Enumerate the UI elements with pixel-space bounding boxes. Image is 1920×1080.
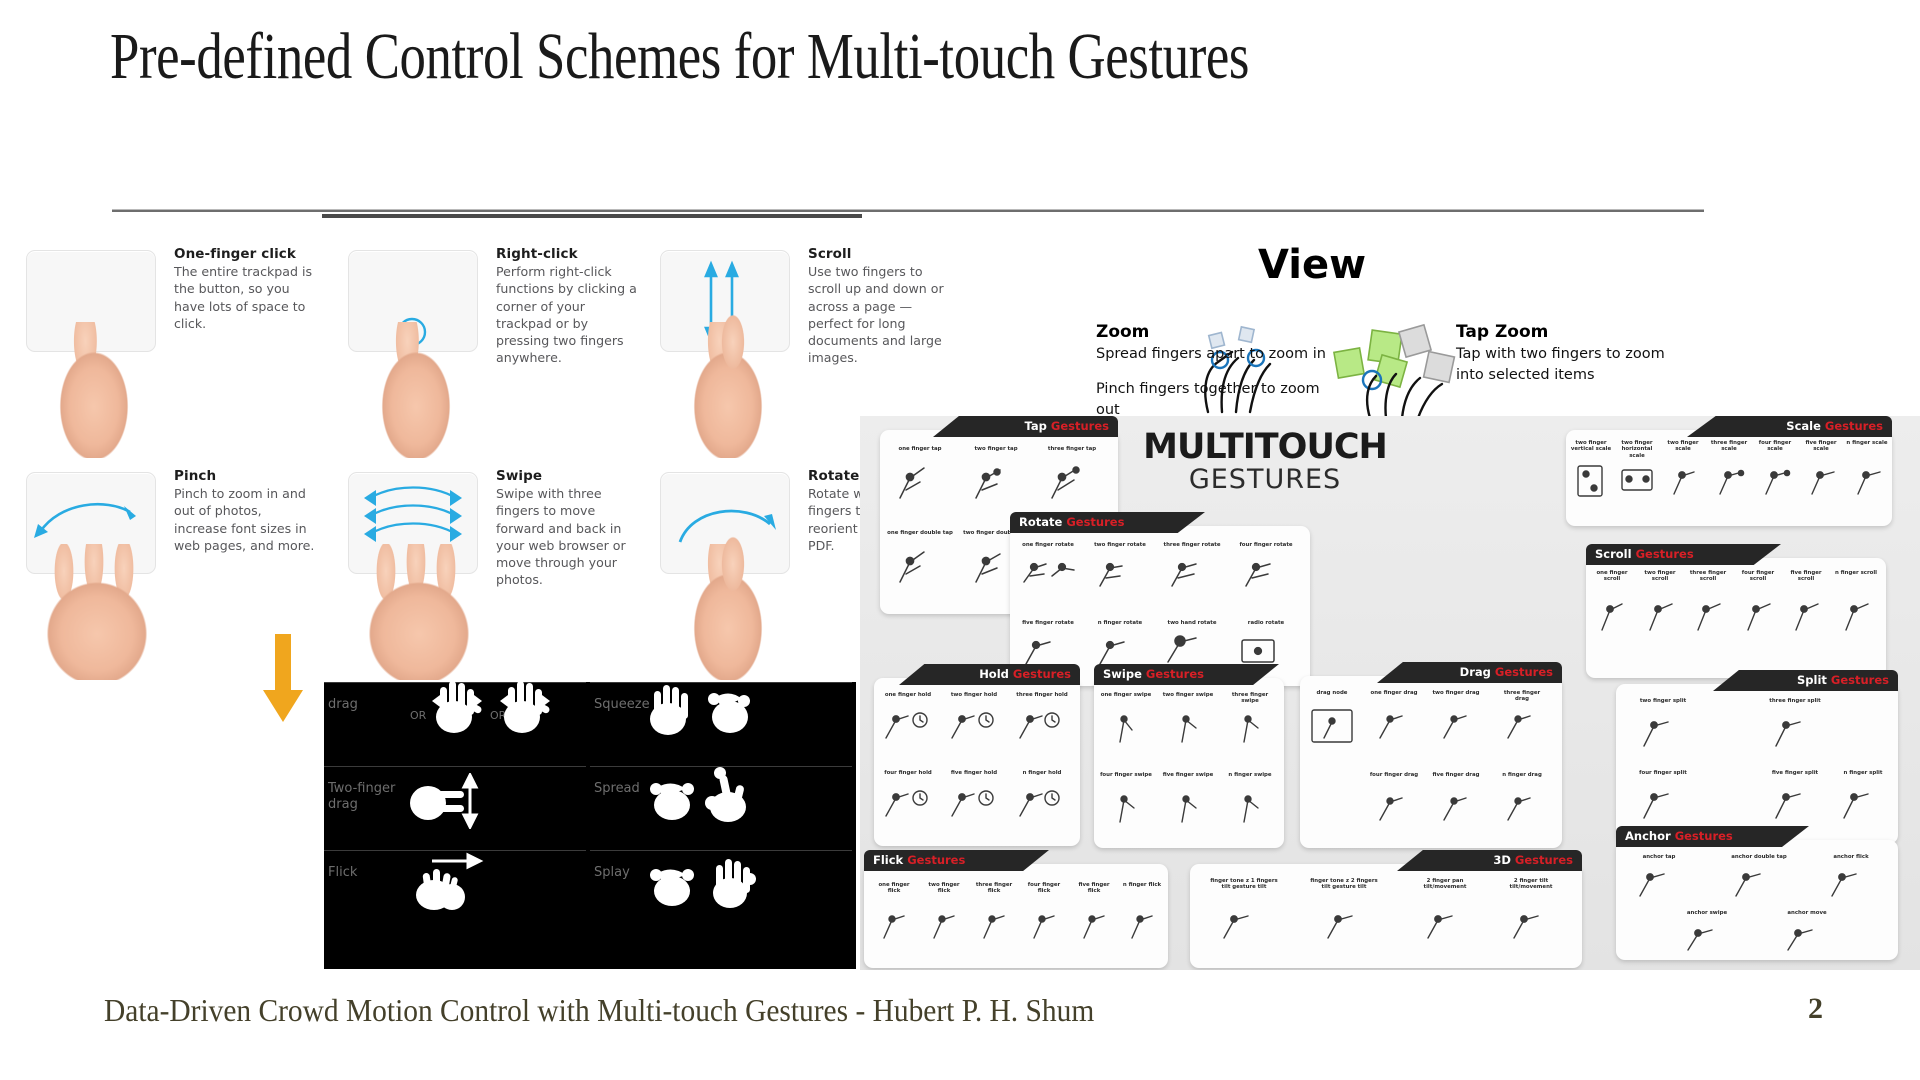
gesture-swipe: Swipe Swipe with three fingers to move f… xyxy=(336,458,646,680)
title-divider-accent xyxy=(322,214,862,218)
gesture-title: One-finger click xyxy=(174,246,316,262)
view-item-line1: Spread fingers apart to zoom in xyxy=(1096,344,1336,365)
poster-card-anchor: Anchor Gestures anchor tap anchor double… xyxy=(1616,840,1898,960)
scroll-icon xyxy=(674,322,782,458)
poster-card-swipe: Swipe Gestures one finger swipe two fing… xyxy=(1094,678,1284,848)
view-item-title: Tap Zoom xyxy=(1456,322,1696,342)
gesture-title: Pinch xyxy=(174,468,316,484)
spread-hand-icon xyxy=(642,759,762,825)
squeeze-hand-icon xyxy=(642,673,762,739)
split-gesture-glyphs xyxy=(1616,684,1898,844)
three-d-gesture-glyphs xyxy=(1190,864,1582,968)
rotate-icon xyxy=(674,544,782,680)
black-panel-row-spread: Spread xyxy=(590,766,852,830)
poster-card-3d: 3D Gestures finger tone z 1 fingers tilt… xyxy=(1190,864,1582,968)
view-item-line2: Pinch fingers together to zoom out xyxy=(1096,379,1336,421)
title-divider xyxy=(112,209,1704,212)
page-number: 2 xyxy=(1808,992,1823,1026)
poster-card-rotate: Rotate Gestures one finger rotate two fi… xyxy=(1010,526,1310,686)
flick-hand-icon xyxy=(406,851,486,913)
swipe-gesture-glyphs xyxy=(1094,678,1284,848)
gesture-one-finger-click: One-finger click The entire trackpad is … xyxy=(14,236,324,458)
black-panel-row-squeeze: Squeeze xyxy=(590,682,852,746)
gesture-title: Swipe xyxy=(496,468,638,484)
anchor-gesture-glyphs xyxy=(1616,840,1898,960)
trackpad-row-bottom: Pinch Pinch to zoom in and out of photos… xyxy=(14,458,946,680)
poster-title: MULTITOUCH GESTURES xyxy=(1115,430,1415,495)
footer-citation: Data-Driven Crowd Motion Control with Mu… xyxy=(104,992,1094,1029)
swipe-icon xyxy=(344,544,494,680)
poster-card-split: Split Gestures two finger split three fi… xyxy=(1616,684,1898,844)
view-section-heading: View xyxy=(1258,242,1366,288)
row-label: Flick xyxy=(328,865,406,881)
view-item-zoom: Zoom Spread fingers apart to zoom in Pin… xyxy=(1096,322,1336,421)
row-label: Two-finger drag xyxy=(328,781,406,812)
right-click-icon xyxy=(362,322,470,458)
poster-card-scale: Scale Gestures two finger vertical scale… xyxy=(1566,430,1892,526)
gesture-description: Swipe with three fingers to move forward… xyxy=(496,485,638,589)
orange-down-arrow-icon xyxy=(262,634,304,724)
tap-zoom-hand-icon xyxy=(1330,306,1470,422)
black-panel-column-left: drag OR OR Two-finger drag xyxy=(324,682,586,969)
black-panel-row-flick: Flick xyxy=(324,850,586,914)
view-item-line1: Tap with two fingers to zoom into select… xyxy=(1456,344,1696,386)
view-item-tap-zoom: Tap Zoom Tap with two fingers to zoom in… xyxy=(1456,322,1696,386)
open-hand-drag-icon xyxy=(428,671,484,735)
gesture-right-click: Right-click Perform right-click function… xyxy=(336,236,646,458)
drag-gesture-glyphs xyxy=(1300,676,1562,848)
flick-gesture-glyphs xyxy=(864,864,1168,968)
two-finger-drag-icon xyxy=(406,773,482,829)
row-connector: OR xyxy=(410,709,426,722)
multitouch-gestures-poster: MULTITOUCH GESTURES Tap Gestures one fin… xyxy=(860,416,1920,970)
splay-hand-icon xyxy=(642,845,762,911)
gesture-description: Pinch to zoom in and out of photos, incr… xyxy=(174,485,316,554)
gesture-description: Use two fingers to scroll up and down or… xyxy=(808,263,946,367)
view-item-title: Zoom xyxy=(1096,322,1336,342)
poster-card-scroll: Scroll Gestures one finger scroll two fi… xyxy=(1586,558,1886,678)
scroll-gesture-glyphs xyxy=(1586,558,1886,678)
hold-gesture-glyphs xyxy=(874,678,1080,846)
poster-card-drag: Drag Gestures drag node one finger drag … xyxy=(1300,676,1562,848)
gesture-reference-black-panel: drag OR OR Two-finger drag xyxy=(324,682,856,969)
poster-card-hold: Hold Gestures one finger hold two finger… xyxy=(874,678,1080,846)
rotate-gesture-glyphs xyxy=(1010,526,1310,686)
poster-card-flick: Flick Gestures one finger flick two fing… xyxy=(864,864,1168,968)
trackpad-row-top: One-finger click The entire trackpad is … xyxy=(14,236,946,458)
gesture-description: Perform right-click functions by clickin… xyxy=(496,263,638,367)
page-title: Pre-defined Control Schemes for Multi-to… xyxy=(110,18,1310,96)
black-panel-row-splay: Splay xyxy=(590,850,852,914)
open-hand-drag-icon-alt xyxy=(496,671,552,735)
poster-title-line2: GESTURES xyxy=(1115,465,1415,495)
pinch-icon xyxy=(22,544,172,680)
poster-title-line1: MULTITOUCH xyxy=(1115,430,1415,465)
black-panel-row-two-finger-drag: Two-finger drag xyxy=(324,766,586,830)
gesture-description: The entire trackpad is the button, so yo… xyxy=(174,263,316,332)
one-finger-click-icon xyxy=(40,322,148,458)
trackpad-gestures-panel: One-finger click The entire trackpad is … xyxy=(14,236,946,681)
scale-gesture-glyphs xyxy=(1566,430,1892,526)
gesture-title: Scroll xyxy=(808,246,946,262)
gesture-title: Right-click xyxy=(496,246,638,262)
black-panel-row-drag: drag OR OR xyxy=(324,682,586,746)
black-panel-column-right: Squeeze Spread xyxy=(590,682,852,969)
row-label: drag xyxy=(328,697,406,713)
